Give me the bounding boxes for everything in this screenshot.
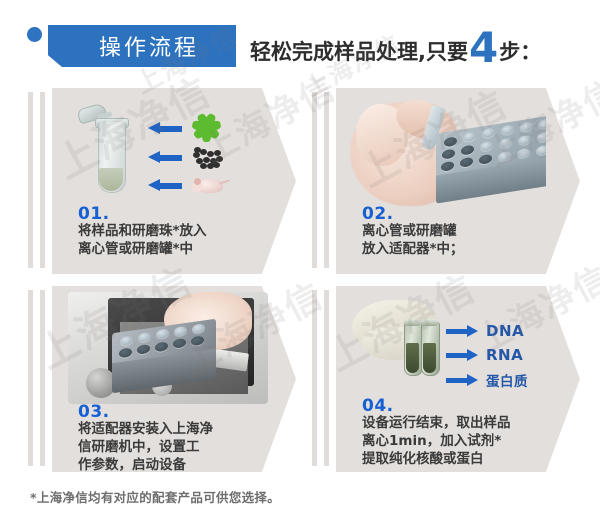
- section-tag: 操作流程: [48, 25, 236, 67]
- steps-container: 01. 将样品和研磨珠*放入 离心管或研磨罐*中: [0, 88, 600, 478]
- step-panel-02: 02. 离心管或研磨罐 放入适配器*中；: [312, 88, 580, 274]
- output-label: RNA: [486, 346, 523, 364]
- output-label: DNA: [486, 322, 524, 340]
- accent-bar: [28, 92, 33, 268]
- arrow-left-icon: [148, 151, 182, 164]
- accent-bar: [28, 290, 33, 466]
- section-tag-label: 操作流程: [85, 30, 199, 62]
- step-number: 03.: [78, 402, 110, 422]
- sample-tube-icon: [421, 322, 440, 376]
- accent-bar: [324, 290, 329, 466]
- step-panel-03: 03. 将适配器安装入上海净 信研磨机中，设置工 作参数，启动设备: [28, 286, 296, 472]
- input-row-plant: [148, 114, 221, 142]
- headline-step-count: 4: [469, 31, 498, 65]
- step-description: 设备运行结束，取出样品 离心1min，加入试剂* 提取纯化核酸或蛋白: [362, 414, 511, 468]
- output-row-dna: DNA: [446, 322, 524, 340]
- headline-prefix: 轻松完成样品处理,只要: [250, 36, 468, 66]
- leaf-icon: [191, 114, 221, 142]
- footnote: *上海净信均有对应的配套产品可供您选择。: [30, 487, 280, 506]
- arrow-left-icon: [148, 122, 182, 135]
- accent-bar: [312, 290, 317, 466]
- arrow-right-icon: [446, 374, 478, 386]
- output-row-rna: RNA: [446, 346, 523, 364]
- mouse-icon: [191, 174, 227, 196]
- accent-bar: [40, 290, 45, 466]
- step-number: 01.: [78, 204, 110, 224]
- arrow-right-icon: [446, 325, 478, 337]
- step-number: 02.: [362, 204, 394, 224]
- input-row-animal: [148, 174, 227, 196]
- accent-bar: [324, 92, 329, 268]
- grinder-installation-photo: [68, 292, 268, 404]
- centrifuge-tube-icon: [84, 106, 138, 192]
- page-header: 操作流程 轻松完成样品处理,只要 4 步：: [0, 0, 600, 86]
- accent-bar: [40, 92, 45, 268]
- step-panel-04: DNA RNA 蛋白质 04. 设备运行结束，取出样品 离心1min，加入试剂*…: [312, 286, 580, 472]
- arrow-left-icon: [148, 179, 182, 192]
- page-title: 轻松完成样品处理,只要 4 步：: [250, 28, 541, 66]
- arrow-right-icon: [446, 349, 478, 361]
- output-row-protein: 蛋白质: [446, 370, 528, 390]
- step-description: 将适配器安装入上海净 信研磨机中，设置工 作参数，启动设备: [78, 420, 213, 474]
- headline-suffix: 步：: [499, 36, 541, 66]
- accent-bar: [312, 92, 317, 268]
- blue-dot-icon: [27, 27, 42, 42]
- step-description: 将样品和研磨珠*放入 离心管或研磨罐*中: [78, 222, 207, 258]
- input-row-seeds: [148, 144, 225, 170]
- step-panel-01: 01. 将样品和研磨珠*放入 离心管或研磨罐*中: [28, 88, 296, 274]
- step-number: 04.: [362, 396, 394, 416]
- beads-icon: [191, 144, 225, 170]
- output-label: 蛋白质: [486, 370, 528, 390]
- step-description: 离心管或研磨罐 放入适配器*中；: [362, 222, 464, 258]
- hand-loading-adapter-photo: [350, 94, 546, 212]
